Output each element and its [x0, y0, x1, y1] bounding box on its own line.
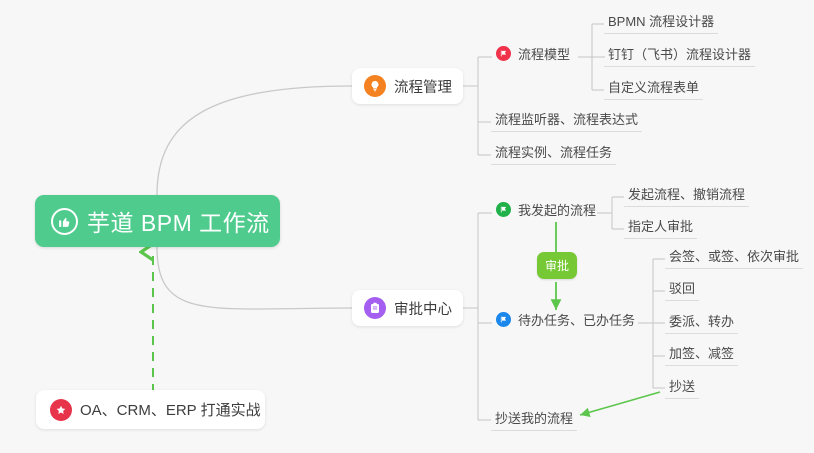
- leaf-label: 抄送: [669, 376, 695, 395]
- leaf-label: 抄送我的流程: [495, 408, 573, 427]
- node-process-model[interactable]: 流程模型: [492, 44, 574, 66]
- leaf-delegate-transfer[interactable]: 委派、转办: [665, 311, 738, 334]
- branch-node-approval-center[interactable]: 审批中心: [352, 290, 463, 326]
- node-my-initiated[interactable]: 我发起的流程: [492, 200, 600, 222]
- leaf-listener-expression[interactable]: 流程监听器、流程表达式: [491, 109, 642, 132]
- leaf-label: 会签、或签、依次审批: [669, 246, 799, 265]
- branch-node-process-management[interactable]: 流程管理: [352, 68, 463, 104]
- root-label: 芋道 BPM 工作流: [87, 204, 270, 238]
- branch-label: 流程管理: [394, 76, 452, 97]
- leaf-add-remove-sign[interactable]: 加签、减签: [665, 343, 738, 366]
- leaf-label: 加签、减签: [669, 343, 734, 362]
- thumbs-up-icon: [51, 208, 78, 235]
- node-todo-done[interactable]: 待办任务、已办任务: [492, 310, 639, 332]
- approve-pill-label: 审批: [537, 252, 577, 279]
- lightbulb-icon: [364, 75, 386, 97]
- leaf-label: 流程实例、流程任务: [495, 142, 612, 161]
- leaf-label: 委派、转办: [669, 311, 734, 330]
- leaf-label: 钉钉（飞书）流程设计器: [608, 44, 751, 63]
- star-icon: [50, 399, 72, 421]
- leaf-multi-sign[interactable]: 会签、或签、依次审批: [665, 246, 803, 269]
- branch-label: 审批中心: [394, 298, 452, 319]
- leaf-instance-task[interactable]: 流程实例、流程任务: [491, 142, 616, 165]
- clipboard-icon: [364, 297, 386, 319]
- leaf-reject[interactable]: 驳回: [665, 278, 699, 301]
- node-label: 待办任务、已办任务: [518, 310, 635, 329]
- mindmap-canvas: 芋道 BPM 工作流 流程管理 审批中心: [0, 0, 814, 453]
- leaf-cc[interactable]: 抄送: [665, 376, 699, 399]
- flag-icon: [496, 312, 511, 327]
- leaf-label: 指定人审批: [628, 216, 693, 235]
- leaf-label: 驳回: [669, 278, 695, 297]
- leaf-bpmn-designer[interactable]: BPMN 流程设计器: [604, 11, 718, 34]
- flag-icon: [496, 202, 511, 217]
- leaf-custom-form[interactable]: 自定义流程表单: [604, 77, 703, 100]
- node-label: 我发起的流程: [518, 200, 596, 219]
- leaf-cc-to-me[interactable]: 抄送我的流程: [491, 408, 577, 431]
- node-label: 流程模型: [518, 44, 570, 63]
- leaf-label: 发起流程、撤销流程: [628, 184, 745, 203]
- bottom-callout-card[interactable]: OA、CRM、ERP 打通实战: [36, 390, 265, 429]
- leaf-dingtalk-designer[interactable]: 钉钉（飞书）流程设计器: [604, 44, 755, 67]
- root-node[interactable]: 芋道 BPM 工作流: [35, 195, 280, 247]
- leaf-start-cancel[interactable]: 发起流程、撤销流程: [624, 184, 749, 207]
- bottom-callout-label: OA、CRM、ERP 打通实战: [80, 399, 261, 420]
- flag-icon: [496, 46, 511, 61]
- leaf-assignee-approve[interactable]: 指定人审批: [624, 216, 697, 239]
- leaf-label: 自定义流程表单: [608, 77, 699, 96]
- leaf-label: 流程监听器、流程表达式: [495, 109, 638, 128]
- leaf-label: BPMN 流程设计器: [608, 11, 714, 30]
